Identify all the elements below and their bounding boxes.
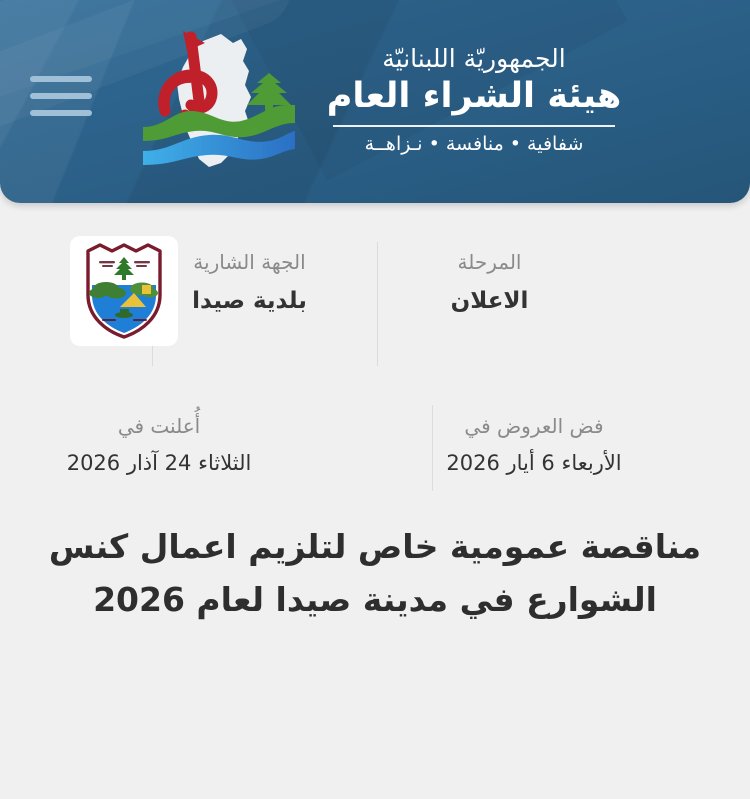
buyer-label: الجهة الشارية <box>192 248 307 277</box>
tender-title: مناقصة عمومية خاص لتلزيم اعمال كنس الشوا… <box>40 520 710 627</box>
announced-label: أُعلنت في <box>67 412 252 441</box>
wordmark-rule <box>333 125 616 127</box>
meta-spacer-cell <box>602 234 750 368</box>
opening-date-cell: فض العروض في الأربعاء 6 أيار 2026 <box>318 398 750 496</box>
authority-wordmark: الجمهوريّة اللبنانيّة هيئة الشراء العام … <box>327 44 622 159</box>
saida-municipality-crest <box>70 236 178 346</box>
buyer-cell: الجهة الشارية بلدية صيدا <box>0 234 377 368</box>
opening-value: الأربعاء 6 أيار 2026 <box>446 448 621 480</box>
stage-value: الاعلان <box>451 284 529 319</box>
stage-label: المرحلة <box>451 248 529 277</box>
republic-line: الجمهوريّة اللبنانيّة <box>327 44 622 74</box>
site-header: الجمهوريّة اللبنانيّة هيئة الشراء العام … <box>0 0 750 203</box>
lebanon-map-cedar-logo <box>129 27 311 177</box>
opening-label: فض العروض في <box>446 412 621 441</box>
announced-value: الثلاثاء 24 آذار 2026 <box>67 448 252 480</box>
stage-cell: المرحلة الاعلان <box>377 234 602 368</box>
authority-name: هيئة الشراء العام <box>327 75 622 118</box>
authority-tagline: شفافية • منافسة • نـزاهــة <box>327 133 622 155</box>
meta-row-primary: الجهة الشارية بلدية صيدا المرحلة الاعلان <box>0 234 750 368</box>
meta-row-dates: أُعلنت في الثلاثاء 24 آذار 2026 فض العرو… <box>0 398 750 496</box>
three-bars-icon <box>30 76 92 116</box>
buyer-value: بلدية صيدا <box>192 284 307 319</box>
announced-date-cell: أُعلنت في الثلاثاء 24 آذار 2026 <box>0 398 318 496</box>
